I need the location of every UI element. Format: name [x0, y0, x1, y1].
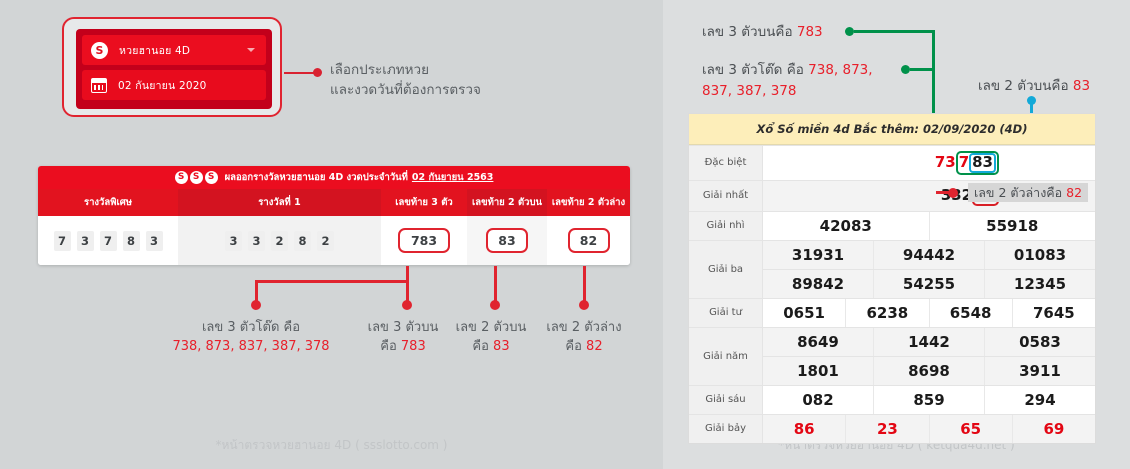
result-table-title: S S S ผลออกรางวัลหวยฮานอย 4D งวดประจำวัน… [38, 166, 630, 189]
left-footer-caption: *หน้าตรวจหวยฮานอย 4D ( ssslotto.com ) [0, 436, 663, 455]
annotation-dot-tote [901, 65, 910, 74]
table-cell: 3911 [984, 357, 1095, 385]
table-cell: 7645 [1012, 299, 1095, 327]
digit-box: 3 [225, 231, 242, 251]
ball-icon-3: S [205, 171, 218, 184]
row-label-giai-nam: Giải năm [689, 328, 763, 385]
result-title-date: 02 กันยายน 2563 [412, 170, 493, 185]
vietnam-table-title: Xổ Số miền 4d Bắc thêm: 02/09/2020 (4D) [689, 114, 1095, 145]
last-2-bottom-cell: 82 [547, 216, 630, 265]
row-label-giai-nhi: Giải nhì [689, 212, 763, 240]
table-cell: 31931 [763, 241, 873, 269]
annotation-right-top3: เลข 3 ตัวบนคือ 783 [702, 22, 823, 43]
ssslotto-logo-icon: S [91, 42, 108, 59]
annotation-right-two-top-value: 83 [1073, 78, 1090, 94]
annotation-last3-prefix: คือ [380, 339, 401, 354]
header-last-2-top: เลขท้าย 2 ตัวบน [467, 189, 547, 216]
connector-dot-last3 [402, 300, 412, 310]
annotation-bottom2: เลข 2 ตัวล่าง คือ 82 [524, 318, 644, 356]
row-label-giai-sau: Giải sáu [689, 386, 763, 414]
header-last-2-bottom: เลขท้าย 2 ตัวล่าง [547, 189, 630, 216]
connector-horizontal-tote [255, 280, 409, 283]
last-3-digits-value: 783 [398, 228, 450, 253]
table-cell: 55918 [929, 212, 1096, 240]
last-2-bottom-value: 82 [568, 228, 610, 253]
result-title-text: ผลออกรางวัลหวยฮานอย 4D งวดประจำวันที่ [225, 170, 408, 185]
digit-box: 8 [294, 231, 311, 251]
annotation-right-two-top: เลข 2 ตัวบนคือ 83 [978, 76, 1090, 97]
table-cell: 69 [1012, 415, 1095, 443]
ssslotto-balls-icon: S S S [175, 171, 218, 184]
annotation-two-low: เลข 2 ตัวล่างคือ 82 [968, 183, 1088, 202]
connector-dot-tote [251, 300, 261, 310]
dac-biet-value: 73783 [763, 146, 1095, 180]
connector-dot-bottom2 [579, 300, 589, 310]
table-cell: 54255 [873, 270, 984, 298]
highlight-box-blue: 83 [969, 153, 996, 173]
digit-box: 2 [317, 231, 334, 251]
selector-annotation-text: เลือกประเภทหวย และงวดวันที่ต้องการตรวจ [330, 60, 481, 100]
header-last-3-digits: เลขท้าย 3 ตัว [381, 189, 467, 216]
annotation-tote-line1: เลข 3 ตัวโต๊ด คือ [125, 318, 377, 337]
table-cell: 6548 [929, 299, 1012, 327]
draw-date-value: 02 กันยายน 2020 [118, 77, 206, 94]
connector-dot-top2 [490, 300, 500, 310]
table-cell: 42083 [763, 212, 929, 240]
digit-box: 7 [54, 231, 71, 251]
table-cell: 082 [763, 386, 873, 414]
header-first-prize: รางวัลที่ 1 [178, 189, 381, 216]
screenshot-root: S หวยฮานอย 4D 02 กันยายน 2020 เลือกประเภ… [0, 0, 1130, 469]
left-panel: S หวยฮานอย 4D 02 กันยายน 2020 เลือกประเภ… [0, 0, 663, 469]
annotation-right-two-top-prefix: เลข 2 ตัวบนคือ [978, 78, 1073, 94]
table-cell: 859 [873, 386, 984, 414]
row-label-giai-ba: Giải ba [689, 241, 763, 298]
chevron-down-icon[interactable] [247, 48, 255, 52]
lottery-type-value: หวยฮานอย 4D [119, 42, 190, 59]
draw-date-dropdown[interactable]: 02 กันยายน 2020 [82, 70, 266, 100]
digit-box: 3 [146, 231, 163, 251]
highlight-box-green: 783 [956, 151, 999, 175]
table-row: Giải sáu 082 859 294 [689, 385, 1095, 414]
table-cell: 01083 [984, 241, 1095, 269]
table-row: Giải bảy 86 23 65 69 [689, 414, 1095, 443]
table-cell: 89842 [763, 270, 873, 298]
ball-icon-1: S [175, 171, 188, 184]
table-cell: 1801 [763, 357, 873, 385]
last-3-digits-cell: 783 [381, 216, 467, 265]
connector-red-two-low [936, 191, 950, 194]
row-values-dac-biet: 73783 [763, 146, 1095, 180]
connector-vertical-bottom2 [583, 266, 586, 302]
digit-box: 3 [248, 231, 265, 251]
connector-vertical-tote [255, 280, 258, 302]
table-cell: 65 [929, 415, 1012, 443]
annotation-two-low-prefix: เลข 2 ตัวล่างคือ [974, 185, 1066, 200]
table-cell: 294 [984, 386, 1095, 414]
selector-annotation-line1: เลือกประเภทหวย [330, 60, 481, 80]
digit-box: 2 [271, 231, 288, 251]
annotation-right-tote-prefix: เลข 3 ตัวโต๊ด คือ [702, 62, 808, 78]
calendar-icon [91, 78, 107, 93]
annotation-dot-top3 [845, 27, 854, 36]
table-cell: 86 [763, 415, 845, 443]
annotation-top2-prefix: คือ [472, 339, 493, 354]
lottery-selector-highlight: S หวยฮานอย 4D 02 กันยายน 2020 [62, 17, 282, 117]
digit-box: 3 [77, 231, 94, 251]
connector-vertical-top2 [494, 266, 497, 302]
table-cell: 12345 [984, 270, 1095, 298]
lottery-type-dropdown[interactable]: S หวยฮานอย 4D [82, 35, 266, 65]
connector-vertical-last3 [406, 266, 409, 302]
vietnam-result-table: Xổ Số miền 4d Bắc thêm: 02/09/2020 (4D) … [688, 113, 1096, 444]
special-prize-digits: 7 3 7 8 3 [38, 216, 178, 265]
connector-green-h2 [910, 68, 934, 71]
annotation-right-tote-value2: 837, 387, 378 [702, 83, 796, 99]
table-cell: 0583 [984, 328, 1095, 356]
table-cell: 0651 [763, 299, 845, 327]
table-row: Đặc biệt 73783 [689, 145, 1095, 180]
selector-annotation-line [284, 72, 314, 74]
row-label-giai-nhat: Giải nhất [689, 181, 763, 211]
ball-icon-2: S [190, 171, 203, 184]
annotation-tote: เลข 3 ตัวโต๊ด คือ 738, 873, 837, 387, 37… [125, 318, 377, 356]
table-cell: 6238 [845, 299, 928, 327]
annotation-bottom2-value: 82 [586, 339, 603, 354]
annotation-top2-value: 83 [493, 339, 510, 354]
row-label-giai-bay: Giải bảy [689, 415, 763, 443]
annotation-right-top3-prefix: เลข 3 ตัวบนคือ [702, 24, 797, 40]
table-cell: 23 [845, 415, 928, 443]
connector-green-h1 [854, 30, 934, 33]
annotation-bottom2-line1: เลข 2 ตัวล่าง [524, 318, 644, 337]
lottery-selector-card: S หวยฮานอย 4D 02 กันยายน 2020 [76, 29, 272, 109]
table-cell: 8649 [763, 328, 873, 356]
annotation-two-low-value: 82 [1066, 185, 1082, 200]
annotation-right-tote: เลข 3 ตัวโต๊ด คือ 738, 873, 837, 387, 37… [702, 60, 932, 102]
row-label-dac-biet: Đặc biệt [689, 146, 763, 180]
table-row: Giải nhì 42083 55918 [689, 211, 1095, 240]
selector-annotation-dot [313, 68, 322, 77]
last-2-top-cell: 83 [467, 216, 547, 265]
table-cell: 1442 [873, 328, 984, 356]
annotation-bottom2-prefix: คือ [565, 339, 586, 354]
selector-annotation-line2: และงวดวันที่ต้องการตรวจ [330, 80, 481, 100]
dac-biet-plain: 73 [935, 153, 956, 171]
table-row: Giải năm 8649 1442 0583 1801 8698 3911 [689, 327, 1095, 385]
digit-box: 7 [100, 231, 117, 251]
table-cell: 8698 [873, 357, 984, 385]
lottery-result-table: S S S ผลออกรางวัลหวยฮานอย 4D งวดประจำวัน… [38, 166, 630, 265]
digit-box: 8 [123, 231, 140, 251]
annotation-tote-values: 738, 873, 837, 387, 378 [172, 339, 329, 354]
table-row: Giải tư 0651 6238 6548 7645 [689, 298, 1095, 327]
dac-biet-digit7: 7 [959, 153, 969, 171]
header-special-prize: รางวัลพิเศษ [38, 189, 178, 216]
annotation-right-tote-value1: 738, 873, [808, 62, 872, 78]
result-table-body-row: 7 3 7 8 3 3 3 2 8 2 783 83 [38, 216, 630, 265]
annotation-last3-value: 783 [401, 339, 426, 354]
table-row: Giải ba 31931 94442 01083 89842 54255 12… [689, 240, 1095, 298]
result-table-header-row: รางวัลพิเศษ รางวัลที่ 1 เลขท้าย 3 ตัว เล… [38, 189, 630, 216]
annotation-right-top3-value: 783 [797, 24, 823, 40]
last-2-top-value: 83 [486, 228, 528, 253]
first-prize-digits: 3 3 2 8 2 [178, 216, 381, 265]
row-label-giai-tu: Giải tư [689, 299, 763, 327]
table-cell: 94442 [873, 241, 984, 269]
